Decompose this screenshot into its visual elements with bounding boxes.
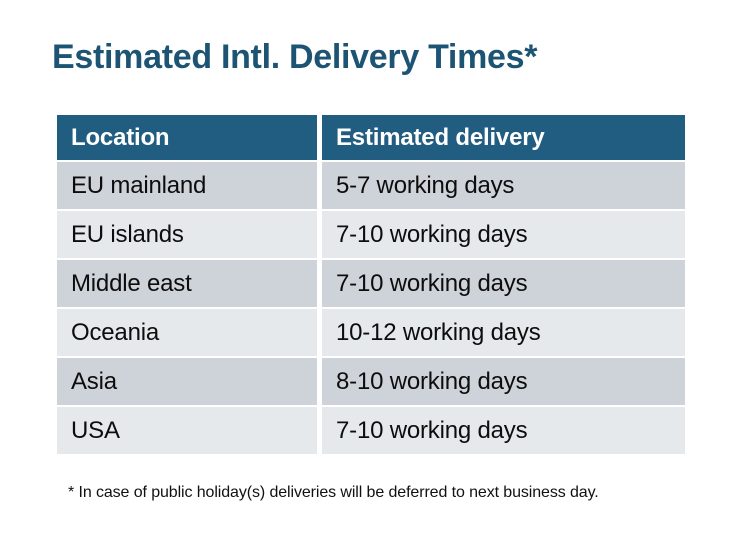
- table-row: EU islands 7-10 working days: [57, 211, 685, 258]
- cell-delivery: 8-10 working days: [322, 358, 685, 405]
- delivery-times-table: Location Estimated delivery EU mainland …: [52, 113, 690, 456]
- cell-location: Oceania: [57, 309, 317, 356]
- cell-location: EU islands: [57, 211, 317, 258]
- table-row: Asia 8-10 working days: [57, 358, 685, 405]
- cell-delivery: 7-10 working days: [322, 260, 685, 307]
- cell-location: USA: [57, 407, 317, 454]
- cell-delivery: 7-10 working days: [322, 211, 685, 258]
- page-title: Estimated Intl. Delivery Times*: [52, 36, 537, 78]
- cell-location: Middle east: [57, 260, 317, 307]
- column-header-delivery: Estimated delivery: [322, 115, 685, 160]
- cell-delivery: 7-10 working days: [322, 407, 685, 454]
- cell-delivery: 10-12 working days: [322, 309, 685, 356]
- table-header-row: Location Estimated delivery: [57, 115, 685, 160]
- cell-location: Asia: [57, 358, 317, 405]
- table-body: EU mainland 5-7 working days EU islands …: [57, 162, 685, 454]
- delivery-times-page: Estimated Intl. Delivery Times* Location…: [0, 0, 745, 536]
- table-row: USA 7-10 working days: [57, 407, 685, 454]
- column-header-location: Location: [57, 115, 317, 160]
- table-row: Middle east 7-10 working days: [57, 260, 685, 307]
- table-row: Oceania 10-12 working days: [57, 309, 685, 356]
- cell-delivery: 5-7 working days: [322, 162, 685, 209]
- table-header: Location Estimated delivery: [57, 115, 685, 160]
- cell-location: EU mainland: [57, 162, 317, 209]
- table-row: EU mainland 5-7 working days: [57, 162, 685, 209]
- footnote-text: * In case of public holiday(s) deliverie…: [68, 482, 599, 504]
